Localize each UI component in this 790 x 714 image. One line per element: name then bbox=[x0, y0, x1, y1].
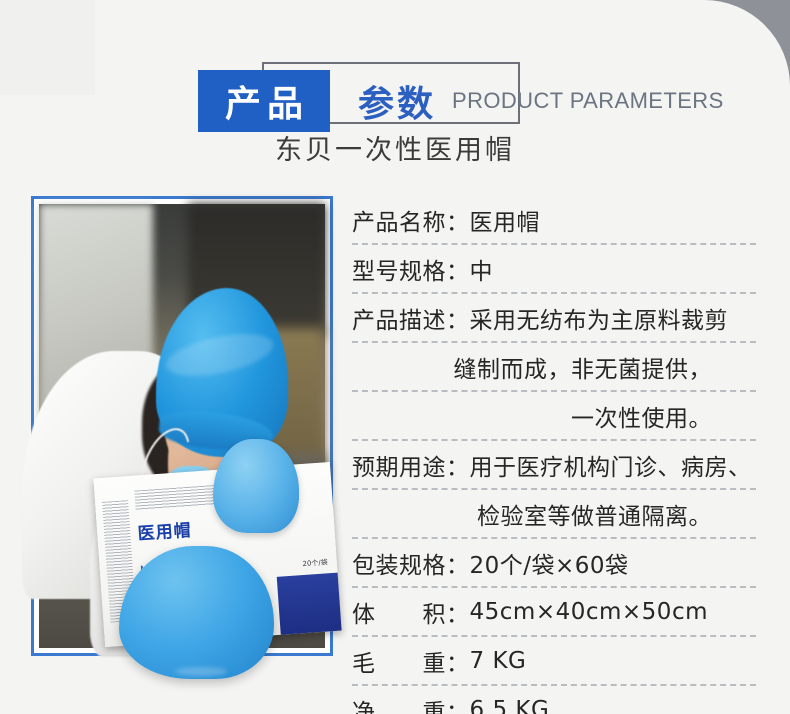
spec-row: 毛 重：7 KG bbox=[352, 637, 756, 686]
spec-table: 产品名称：医用帽型号规格：中产品描述：采用无纺布为主原料裁剪缝制而成，非无菌提供… bbox=[352, 196, 756, 714]
product-cap-back bbox=[213, 439, 299, 532]
spec-row-value: 采用无纺布为主原料裁剪 bbox=[470, 301, 729, 335]
product-photo: 东贝 医用帽 Medical Cap 20个/袋 bbox=[31, 196, 333, 656]
spec-row-value: 7 KG bbox=[470, 648, 527, 674]
product-photo-image: 东贝 医用帽 Medical Cap 20个/袋 bbox=[39, 204, 325, 648]
product-cap-front-highlight bbox=[175, 667, 228, 676]
spec-row-label: 预期用途： bbox=[352, 448, 470, 482]
spec-row-value: 中 bbox=[470, 252, 494, 286]
spec-row: 预期用途：用于医疗机构门诊、病房、 bbox=[352, 441, 756, 490]
header-badge-label: 产品 bbox=[198, 70, 330, 132]
spec-row: 产品名称：医用帽 bbox=[352, 196, 756, 245]
spec-row-value: 6.5 KG bbox=[470, 697, 550, 714]
spec-row-value: 检验室等做普通隔离。 bbox=[477, 497, 712, 531]
package-title-label: 医用帽 bbox=[137, 516, 193, 545]
spec-row: 体 积：45cm×40cm×50cm bbox=[352, 588, 756, 637]
spec-row: 检验室等做普通隔离。 bbox=[352, 490, 756, 539]
spec-row-label: 型号规格： bbox=[352, 252, 470, 286]
header-banner: 产品 参数 PRODUCT PARAMETERS bbox=[0, 28, 790, 110]
spec-row-value: 一次性使用。 bbox=[571, 399, 712, 433]
spec-row-label: 毛 重： bbox=[352, 644, 470, 678]
spec-row-value: 医用帽 bbox=[470, 203, 541, 237]
package-quantity-label: 20个/袋 bbox=[302, 557, 328, 569]
product-parameters-page: 产品 参数 PRODUCT PARAMETERS 东贝一次性医用帽 bbox=[0, 0, 790, 714]
spec-row: 包装规格：20个/袋×60袋 bbox=[352, 539, 756, 588]
header-english-label: PRODUCT PARAMETERS bbox=[452, 70, 724, 132]
spec-row-label: 产品描述： bbox=[352, 301, 470, 335]
header-accent-label: 参数 bbox=[358, 70, 436, 132]
spec-row: 缝制而成，非无菌提供， bbox=[352, 343, 756, 392]
spec-row: 一次性使用。 bbox=[352, 392, 756, 441]
spec-row-value: 45cm×40cm×50cm bbox=[470, 599, 709, 625]
spec-row-label: 净 重： bbox=[352, 693, 470, 714]
spec-row-label: 产品名称： bbox=[352, 203, 470, 237]
package-fineprint-top bbox=[135, 485, 222, 511]
spec-row: 产品描述：采用无纺布为主原料裁剪 bbox=[352, 294, 756, 343]
page-title: 东贝一次性医用帽 bbox=[0, 128, 790, 167]
spec-row-value: 20个/袋×60袋 bbox=[470, 546, 629, 580]
spec-row-value: 用于医疗机构门诊、病房、 bbox=[470, 448, 752, 482]
spec-row-value: 缝制而成，非无菌提供， bbox=[454, 350, 713, 384]
spec-row: 净 重：6.5 KG bbox=[352, 686, 756, 714]
spec-row-label: 体 积： bbox=[352, 595, 470, 629]
spec-row: 型号规格：中 bbox=[352, 245, 756, 294]
package-blue-bar bbox=[276, 573, 342, 635]
spec-row-label: 包装规格： bbox=[352, 546, 470, 580]
